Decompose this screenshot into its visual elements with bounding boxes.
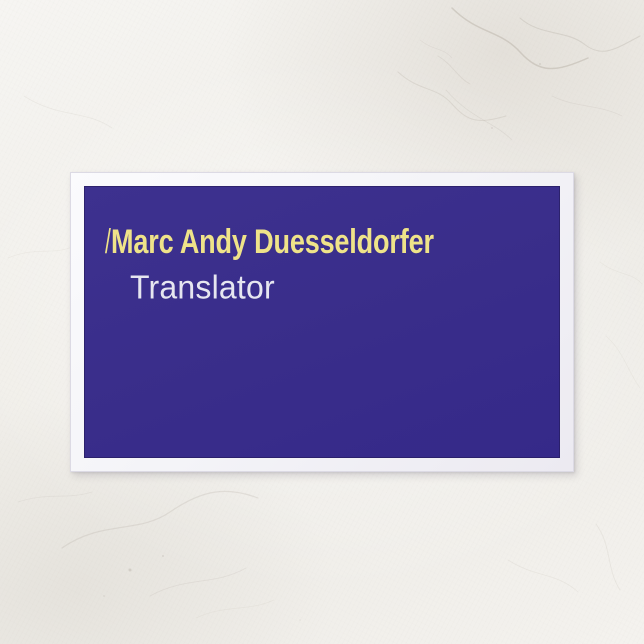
card-name-line: /Marc Andy Duesseldorfer [105, 225, 548, 259]
slash-accent-glyph: / [105, 225, 111, 259]
card-text-block: /Marc Andy Duesseldorfer Translator [105, 225, 548, 303]
card-name: Marc Andy Duesseldorfer [111, 225, 434, 259]
card-job-title: Translator [130, 271, 275, 304]
business-card[interactable]: /Marc Andy Duesseldorfer Translator [70, 172, 574, 472]
card-navy-panel: /Marc Andy Duesseldorfer Translator [84, 186, 560, 458]
card-title-line: Translator [105, 271, 548, 303]
business-card-scene: /Marc Andy Duesseldorfer Translator [0, 0, 644, 644]
